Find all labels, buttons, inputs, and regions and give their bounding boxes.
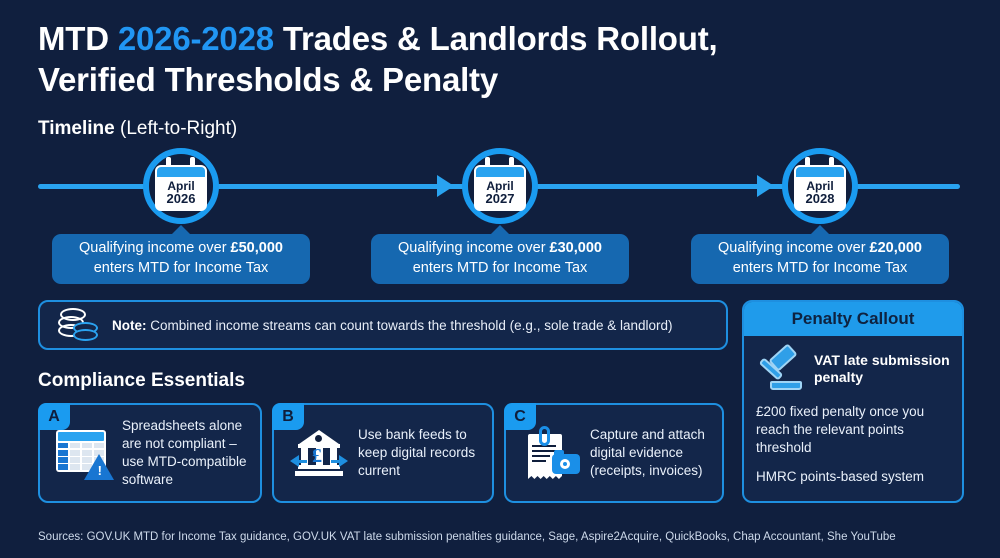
calendar-header-band [476,167,524,177]
infographic-root: MTD 2026-2028 Trades & Landlords Rollout… [0,0,1000,558]
gavel-sound-block [770,381,802,390]
card-badge-a: A [38,403,70,430]
calendar-date: April 2028 [796,177,844,209]
compliance-card-a[interactable]: A ! Spreadsheets alone are not compliant… [38,403,262,503]
calendar-date: April 2027 [476,177,524,209]
timeline-heading-rest: (Left-to-Right) [115,118,237,139]
penalty-body-1: £200 fixed penalty once you reach the re… [756,403,950,457]
calendar-year: 2026 [167,192,196,206]
timeline-heading: Timeline (Left-to-Right) [38,118,237,140]
arrow-right-bar [331,460,341,464]
coin-stack-front [73,329,98,341]
pill-text-line2: enters MTD for Income Tax [733,260,908,276]
penalty-callout-body: VAT late submission penalty £200 fixed p… [744,336,962,486]
penalty-callout-header: Penalty Callout [744,302,962,336]
title-part1: MTD [38,20,118,57]
title-line2: Verified Thresholds & Penalty [38,61,498,98]
calendar-icon: April 2026 [155,161,207,211]
bank-transfer-icon: £ [290,428,348,478]
pill-text-pre: Qualifying income over [398,240,550,256]
calendar-body: April 2028 [794,165,846,211]
timeline-heading-bold: Timeline [38,118,115,139]
pill-amount: £30,000 [550,240,602,256]
note-label: Note: [112,318,147,333]
timeline-arrow-1 [437,175,454,197]
bank-base [295,471,343,476]
compliance-card-c[interactable]: C Capture and attach digital evidence (r… [504,403,724,503]
timeline: April 2026 April 2027 [0,148,1000,273]
penalty-body-2: HMRC points-based system [756,468,950,486]
timeline-node-2028[interactable]: April 2028 [782,148,858,224]
calendar-date: April 2026 [157,177,205,209]
sources-footer: Sources: GOV.UK MTD for Income Tax guida… [38,531,896,543]
calendar-icon: April 2028 [794,161,846,211]
page-title: MTD 2026-2028 Trades & Landlords Rollout… [38,18,968,101]
receipt-line [532,455,550,457]
timeline-pill-2026: Qualifying income over £50,000 enters MT… [52,234,310,284]
card-badge-b: B [272,403,304,430]
pill-amount: £50,000 [231,240,283,256]
pound-symbol-icon: £ [312,446,322,466]
calendar-body: April 2027 [474,165,526,211]
card-text-a: Spreadsheets alone are not compliant – u… [122,417,250,488]
pill-text-line2: enters MTD for Income Tax [94,260,269,276]
penalty-callout-panel: Penalty Callout VAT late submission pena… [742,300,964,503]
gavel-icon [756,346,806,392]
calendar-icon: April 2027 [474,161,526,211]
penalty-title: VAT late submission penalty [814,352,950,387]
camera-lens [560,459,570,469]
camera-flash [573,455,577,459]
calendar-year: 2027 [486,192,515,206]
timeline-pill-2027: Qualifying income over £30,000 enters MT… [371,234,629,284]
timeline-arrow-2 [757,175,774,197]
pill-amount: £20,000 [870,240,922,256]
pill-text-pre: Qualifying income over [718,240,870,256]
title-part2: Trades & Landlords Rollout, [274,20,718,57]
bank-pediment-dot [315,435,322,442]
calendar-year: 2028 [806,192,835,206]
title-accent-years: 2026-2028 [118,20,274,57]
timeline-node-2026[interactable]: April 2026 [143,148,219,224]
pill-text-pre: Qualifying income over [79,240,231,256]
paperclip-icon [539,426,550,446]
spreadsheet-header-row [58,432,104,441]
calendar-header-band [157,167,205,177]
calendar-body: April 2026 [155,165,207,211]
note-text: Note: Combined income streams can count … [112,318,673,333]
receipt-camera-icon [522,426,580,480]
receipt-line [532,460,546,462]
note-body: Combined income streams can count toward… [147,318,673,333]
coins-icon [56,307,100,343]
card-text-b: Use bank feeds to keep digital records c… [358,426,482,479]
timeline-node-2027[interactable]: April 2027 [462,148,538,224]
timeline-pill-2028: Qualifying income over £20,000 enters MT… [691,234,949,284]
calendar-header-band [796,167,844,177]
arrow-left-bar [297,460,307,464]
pill-text-line2: enters MTD for Income Tax [413,260,588,276]
receipt-line [532,450,556,452]
card-text-c: Capture and attach digital evidence (rec… [590,426,712,479]
spreadsheet-warning-icon: ! [56,428,112,478]
warning-exclamation: ! [98,464,102,477]
penalty-title-row: VAT late submission penalty [756,346,950,392]
compliance-card-b[interactable]: B £ Use bank feeds to keep digital recor… [272,403,494,503]
compliance-heading: Compliance Essentials [38,370,245,392]
note-box: Note: Combined income streams can count … [38,300,728,350]
